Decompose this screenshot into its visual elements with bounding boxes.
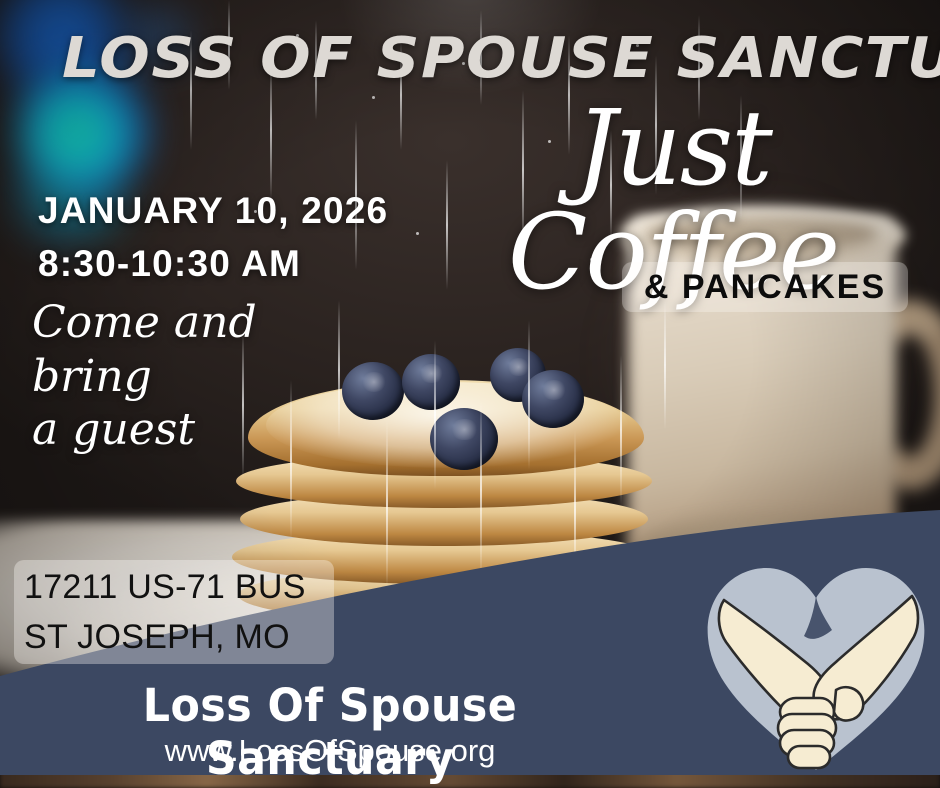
invitation-line-2: a guest xyxy=(32,403,352,457)
event-time: 8:30-10:30 AM xyxy=(38,243,301,285)
invitation-text: Come and bring a guest xyxy=(32,296,352,457)
page-title: LOSS OF SPOUSE SANCTUARY xyxy=(62,26,927,91)
event-address: 17211 US-71 BUS ST JOSEPH, MO xyxy=(24,562,344,663)
holding-hands-heart-logo xyxy=(700,538,932,776)
address-line-2: ST JOSEPH, MO xyxy=(24,612,344,662)
event-secondary-title: & PANCAKES xyxy=(622,262,908,312)
invitation-line-1: Come and bring xyxy=(32,296,352,403)
event-flyer: LOSS OF SPOUSE SANCTUARY Just Coffee & P… xyxy=(0,0,940,788)
footer-website[interactable]: www.LossOfSpouse.org xyxy=(0,733,660,769)
address-line-1: 17211 US-71 BUS xyxy=(24,562,344,612)
event-date: JANUARY 10, 2026 xyxy=(38,190,388,232)
footer-org-name: Loss Of Spouse Sanctuary xyxy=(17,679,644,785)
